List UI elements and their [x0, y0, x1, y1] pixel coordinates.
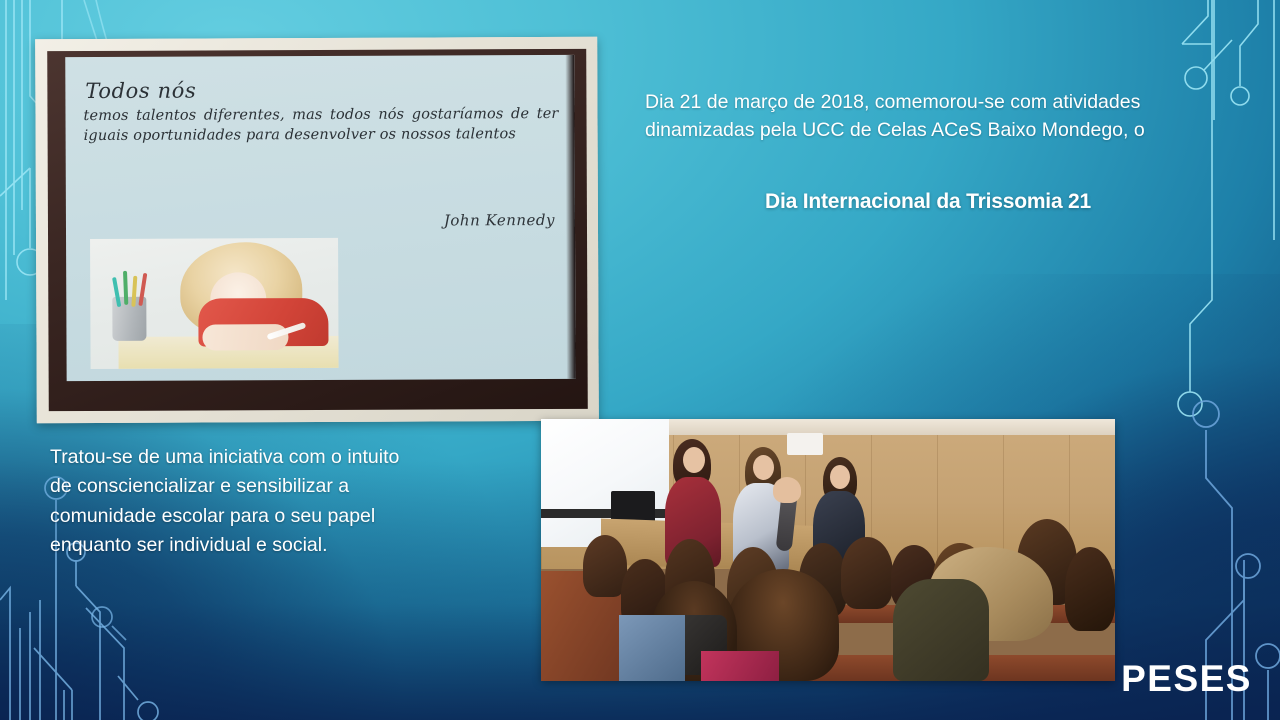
headline-title: Dia Internacional da Trissomia 21: [645, 190, 1211, 214]
denim-jacket: [619, 615, 685, 681]
classroom-photo: [541, 419, 1115, 681]
intro-paragraph: Dia 21 de março de 2018, comemorou-se co…: [645, 88, 1211, 145]
description-block: Tratou-se de uma iniciativa com o intuit…: [50, 443, 448, 560]
student-jacket-olive: [893, 579, 989, 681]
screen-edge-shadow: [565, 55, 575, 379]
quote-heading: Todos nós: [85, 79, 196, 103]
description-line-1: Tratou-se de uma iniciativa com o intuit…: [50, 443, 448, 472]
peses-wordmark: PESES: [1121, 658, 1252, 700]
quote-author: John Kennedy: [444, 211, 555, 229]
quote-body-text: temos talentos diferentes, mas todos nós…: [83, 105, 558, 147]
raised-hand: [773, 477, 801, 503]
description-line-2: de consciencializar e sensibilizar a: [50, 472, 448, 501]
description-line-4: enquanto ser individual e social.: [50, 531, 448, 560]
child-drawing-image: [90, 238, 339, 369]
presentation-slide: Todos nós temos talentos diferentes, mas…: [0, 0, 1280, 720]
presenter-2-head: [753, 455, 774, 480]
pink-top: [701, 651, 779, 681]
projected-slide-photo: Todos nós temos talentos diferentes, mas…: [35, 37, 599, 423]
projection-screen: Todos nós temos talentos diferentes, mas…: [65, 55, 575, 381]
presenter-3-head: [830, 465, 850, 489]
student-head: [841, 537, 893, 609]
student-head: [1065, 547, 1115, 631]
wall-socket: [787, 433, 823, 455]
presenter-1-head: [683, 447, 705, 473]
description-line-3: comunidade escolar para o seu papel: [50, 502, 448, 531]
pencil-green: [123, 271, 128, 305]
